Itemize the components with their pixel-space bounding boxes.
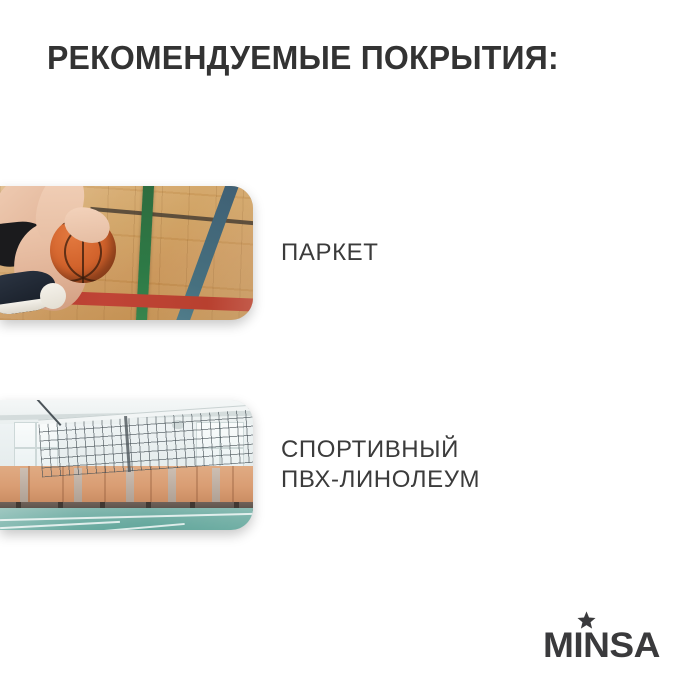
covering-row-parquet: ПАРКЕТ: [0, 186, 700, 320]
wall-bars-post: [212, 468, 220, 502]
covering-label-parquet: ПАРКЕТ: [281, 238, 379, 268]
wall-bars-post: [20, 468, 28, 502]
wall-bars-panel: [0, 466, 253, 504]
panel-seam: [150, 466, 152, 504]
page-title: РЕКОМЕНДУЕМЫЕ ПОКРЫТИЯ:: [47, 38, 559, 78]
pvc-gym-hall-photo: [0, 400, 253, 530]
photo-inner: [0, 400, 253, 530]
gym-hall-scene: [0, 400, 253, 530]
panel-seam: [232, 466, 234, 504]
wall-bars-post: [126, 468, 134, 502]
parquet-gym-floor-photo: [0, 186, 253, 320]
photo-inner: [0, 186, 253, 320]
brand-wordmark: MINSA: [543, 628, 660, 663]
sneaker-toe-cap: [40, 283, 66, 309]
brand-logo: MINSA: [543, 611, 655, 663]
covering-row-pvc: СПОРТИВНЫЙ ПВХ-ЛИНОЛЕУМ: [0, 400, 700, 530]
wall-bars-post: [168, 468, 176, 502]
panel-seam: [196, 466, 198, 504]
covering-label-pvc: СПОРТИВНЫЙ ПВХ-ЛИНОЛЕУМ: [281, 435, 480, 495]
panel-seam: [28, 466, 30, 504]
